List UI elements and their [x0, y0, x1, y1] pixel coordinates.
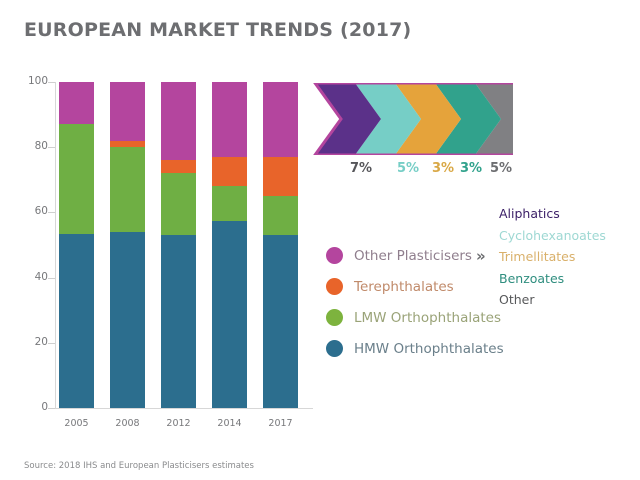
bars-layer: [55, 82, 313, 408]
bar-segment[interactable]: [110, 82, 145, 141]
legend-item-label: Terephthalates: [354, 279, 454, 295]
sublegend: AliphaticsCyclohexanoatesTrimellitatesBe…: [499, 203, 606, 311]
bar-segment[interactable]: [263, 82, 298, 157]
percent-label: 5%: [490, 161, 512, 176]
y-tick-label: 20: [4, 336, 48, 348]
legend-item[interactable]: LMW Orthophthalates: [326, 302, 504, 333]
bar-segment[interactable]: [212, 186, 247, 220]
legend-swatch-icon: [326, 340, 343, 357]
bar-segment[interactable]: [110, 232, 145, 408]
sublegend-item: Cyclohexanoates: [499, 225, 606, 247]
y-tick-mark: [48, 82, 55, 83]
bar-2005[interactable]: [59, 82, 94, 408]
bar-2014[interactable]: [212, 82, 247, 408]
bar-segment[interactable]: [59, 234, 94, 408]
sublegend-item: Trimellitates: [499, 246, 606, 268]
bar-segment[interactable]: [161, 82, 196, 160]
y-tick-mark: [48, 343, 55, 344]
bar-segment[interactable]: [263, 235, 298, 408]
percent-label: 3%: [460, 161, 482, 176]
bar-segment[interactable]: [263, 196, 298, 235]
legend-item-label: HMW Orthophthalates: [354, 341, 504, 357]
y-tick-label: 100: [4, 75, 48, 87]
legend-swatch-icon: [326, 278, 343, 295]
bar-2008[interactable]: [110, 82, 145, 408]
sublegend-item: Other: [499, 289, 606, 311]
y-axis-labels: 020406080100: [0, 0, 48, 440]
chevron-breakdown-graphic: [313, 83, 513, 155]
x-tick-label: 2017: [251, 418, 311, 429]
bar-segment[interactable]: [59, 124, 94, 233]
bar-segment[interactable]: [59, 82, 94, 124]
y-tick-mark: [48, 147, 55, 148]
legend-swatch-icon: [326, 247, 343, 264]
percent-label: 5%: [397, 161, 419, 176]
chart-plot-area: 020406080100 20052008201220142017: [0, 0, 330, 440]
legend-item-label: Other Plasticisers: [354, 248, 472, 264]
y-tick-mark: [48, 278, 55, 279]
sublegend-item: Aliphatics: [499, 203, 606, 225]
legend-item-label: LMW Orthophthalates: [354, 310, 501, 326]
bar-segment[interactable]: [212, 157, 247, 186]
legend-item[interactable]: Terephthalates: [326, 271, 504, 302]
percent-label: 7%: [350, 161, 372, 176]
chevron-separator-icon: »: [476, 247, 486, 265]
bar-segment[interactable]: [161, 173, 196, 235]
bar-2017[interactable]: [263, 82, 298, 408]
y-tick-label: 60: [4, 205, 48, 217]
bar-segment[interactable]: [110, 147, 145, 232]
bar-segment[interactable]: [161, 235, 196, 408]
x-axis-line: [55, 408, 313, 409]
legend-swatch-icon: [326, 309, 343, 326]
sublegend-item: Benzoates: [499, 268, 606, 290]
source-note: Source: 2018 IHS and European Plasticise…: [24, 461, 254, 471]
y-tick-mark: [48, 408, 55, 409]
bar-segment[interactable]: [110, 141, 145, 148]
percent-labels-row: 7%5%3%3%5%: [350, 161, 530, 181]
percent-label: 3%: [432, 161, 454, 176]
chart-page: EUROPEAN MARKET TRENDS (2017) 0204060801…: [0, 0, 640, 480]
legend-item[interactable]: HMW Orthophthalates: [326, 333, 504, 364]
y-tick-mark: [48, 212, 55, 213]
bar-segment[interactable]: [263, 157, 298, 196]
y-tick-label: 80: [4, 140, 48, 152]
bar-segment[interactable]: [161, 160, 196, 173]
bar-2012[interactable]: [161, 82, 196, 408]
y-tick-label: 0: [4, 401, 48, 413]
bar-segment[interactable]: [212, 82, 247, 157]
y-tick-label: 40: [4, 271, 48, 283]
bar-segment[interactable]: [212, 221, 247, 408]
